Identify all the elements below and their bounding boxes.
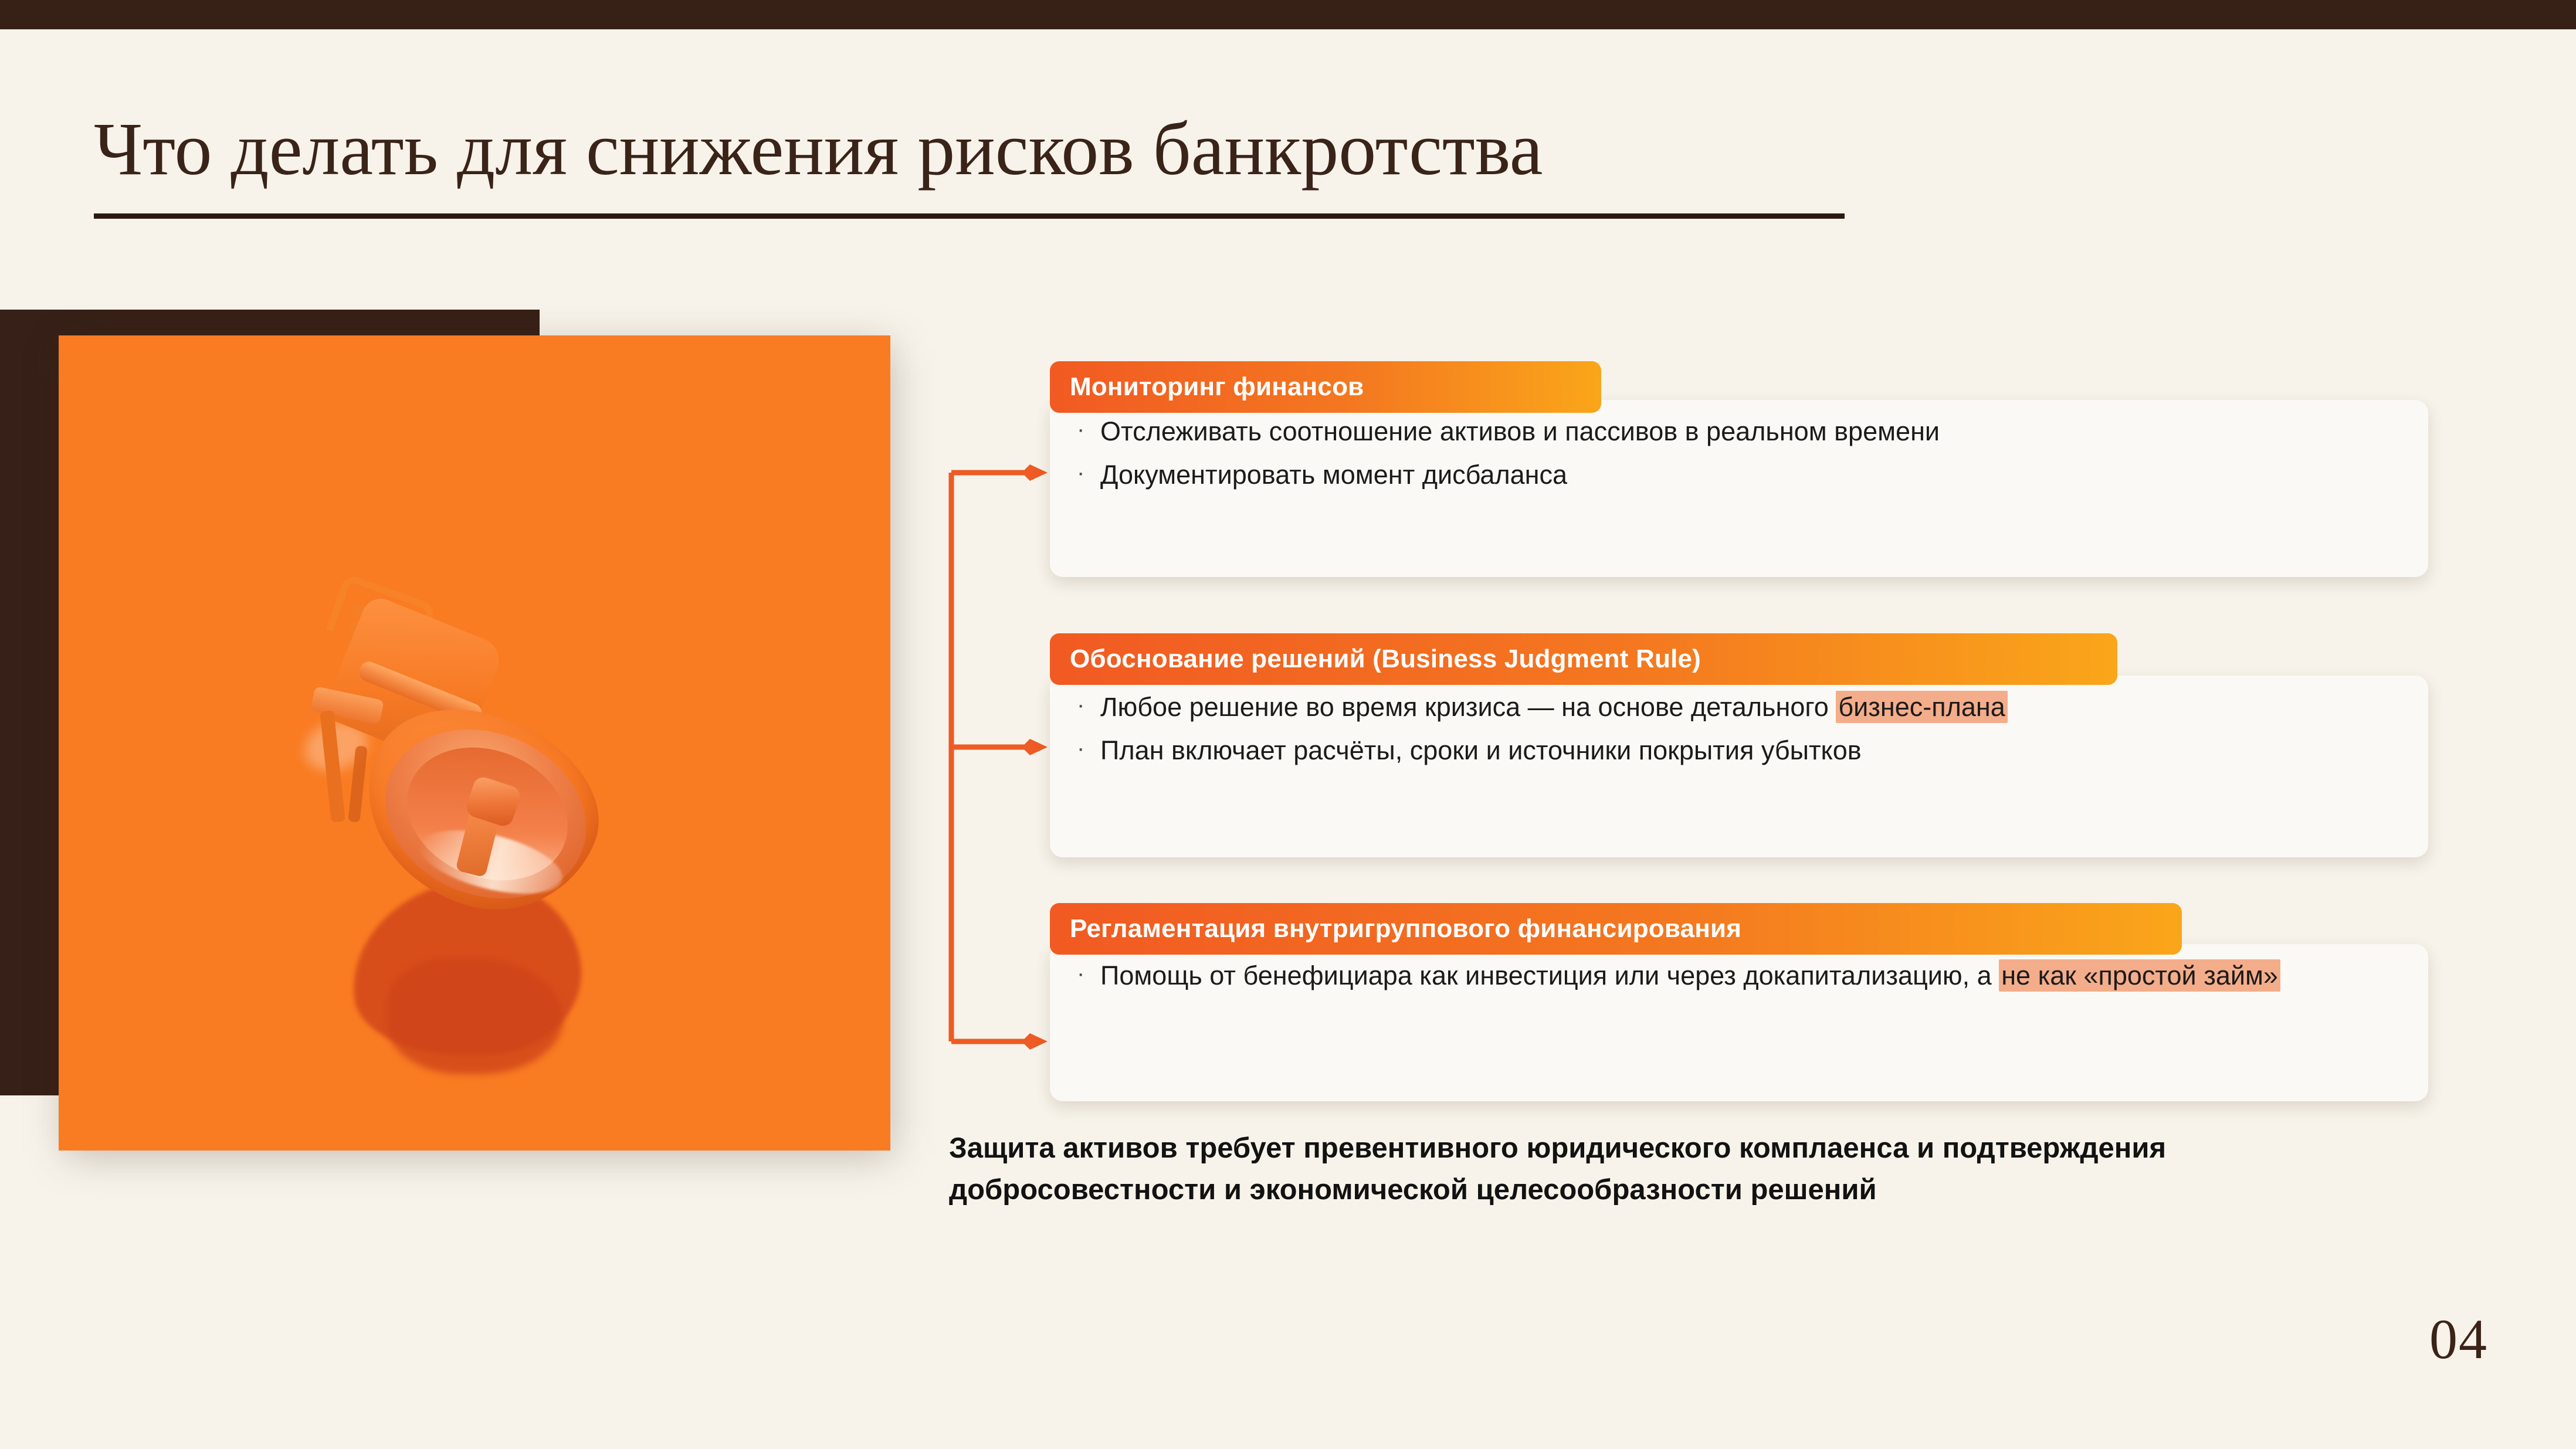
summary-statement: Защита активов требует превентивного юри… xyxy=(949,1128,2427,1210)
page-title: Что делать для снижения рисков банкротст… xyxy=(94,108,1912,189)
card-header-monitoring: Мониторинг финансов xyxy=(1050,361,1601,413)
highlighted-phrase: не как «простой займ» xyxy=(1999,959,2280,992)
card-header-business-judgment-rule: Обоснование решений (Business Judgment R… xyxy=(1050,633,2117,685)
megaphone-illustration xyxy=(59,335,890,1151)
title-underline xyxy=(94,213,1845,219)
photo-megaphone: Фото: jose-castillo / unsplash xyxy=(59,335,890,1151)
bullet-text: Отслеживать соотношение активов и пассив… xyxy=(1100,413,2401,450)
top-accent-bar xyxy=(0,0,2576,29)
bullet-marker-icon: · xyxy=(1077,456,1100,490)
bullet-marker-icon: · xyxy=(1077,688,1100,722)
bullet-text: Документировать момент дисбаланса xyxy=(1100,456,2401,494)
list-item: · Документировать момент дисбаланса xyxy=(1077,456,2401,494)
bullet-marker-icon: · xyxy=(1077,732,1100,765)
list-item: · Отслеживать соотношение активов и пасс… xyxy=(1077,413,2401,450)
list-item: · Помощь от бенефициара как инвестиция и… xyxy=(1077,957,2401,995)
page-number: 04 xyxy=(2429,1307,2488,1372)
bullet-text: Помощь от бенефициара как инвестиция или… xyxy=(1100,957,2401,995)
card-intragroup-financing[interactable]: · Помощь от бенефициара как инвестиция и… xyxy=(1050,944,2428,1101)
highlighted-phrase: бизнес-плана xyxy=(1836,691,2007,723)
bullet-marker-icon: · xyxy=(1077,957,1100,990)
card-body: · Отслеживать соотношение активов и пасс… xyxy=(1050,400,2428,505)
bullet-text: Любое решение во время кризиса — на осно… xyxy=(1100,688,2401,726)
list-item: · Любое решение во время кризиса — на ос… xyxy=(1077,688,2401,726)
bullet-text: План включает расчёты, сроки и источники… xyxy=(1100,732,2401,769)
card-monitoring[interactable]: · Отслеживать соотношение активов и пасс… xyxy=(1050,400,2428,577)
list-item: · План включает расчёты, сроки и источни… xyxy=(1077,732,2401,769)
card-header-intragroup-financing: Регламентация внутригруппового финансиро… xyxy=(1050,903,2182,955)
slide: Что делать для снижения рисков банкротст… xyxy=(0,0,2576,1449)
bullet-marker-icon: · xyxy=(1077,413,1100,446)
card-business-judgment-rule[interactable]: · Любое решение во время кризиса — на ос… xyxy=(1050,676,2428,857)
card-body: · Любое решение во время кризиса — на ос… xyxy=(1050,676,2428,781)
